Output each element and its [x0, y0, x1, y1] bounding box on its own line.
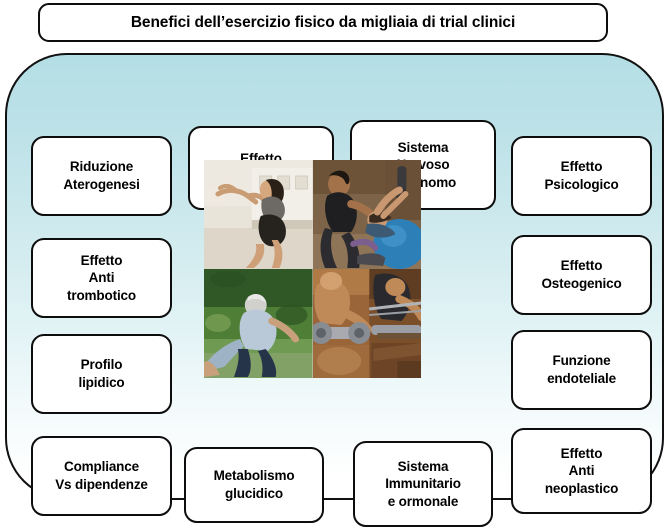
diagram-title-box: Benefici dell’esercizio fisico da miglia… — [38, 3, 608, 42]
photo-dumbbell-lifting-and-gym-equipment-closeups — [313, 269, 422, 378]
node-compliance-vs-dipendenze[interactable]: ComplianceVs dipendenze — [31, 436, 172, 516]
node-label: Metabolismoglucidico — [210, 467, 299, 502]
node-label: SistemaImmunitarioe ormonale — [381, 458, 465, 511]
node-metabolismo-glucidico[interactable]: Metabolismoglucidico — [184, 447, 324, 523]
node-profilo-lipidico[interactable]: Profilolipidico — [31, 334, 172, 414]
node-effetto-psicologico[interactable]: EffettoPsicologico — [511, 136, 652, 216]
node-label: RiduzioneAterogenesi — [59, 158, 143, 193]
node-label: EffettoPsicologico — [540, 158, 622, 193]
photo-trainer-assisting-woman-on-exercise-ball — [313, 160, 422, 269]
photo-woman-stretching-yoga-indoors — [204, 160, 313, 269]
node-funzione-endoteliale[interactable]: Funzioneendoteliale — [511, 330, 652, 410]
node-sistema-immunitario-e-ormonale[interactable]: SistemaImmunitarioe ormonale — [353, 441, 493, 527]
node-label: EffettoOsteogenico — [537, 257, 625, 292]
node-label: ComplianceVs dipendenze — [51, 458, 152, 493]
node-riduzione-aterogenesi[interactable]: RiduzioneAterogenesi — [31, 136, 172, 216]
node-label: Profilolipidico — [74, 356, 128, 391]
node-label: EffettoAntitrombotico — [63, 252, 140, 305]
node-label: Funzioneendoteliale — [543, 352, 620, 387]
node-effetto-antitrombotico[interactable]: EffettoAntitrombotico — [31, 238, 172, 318]
exercise-photo-collage — [204, 160, 421, 378]
page-title: Benefici dell’esercizio fisico da miglia… — [131, 14, 515, 32]
node-label: EffettoAntineoplastico — [541, 445, 622, 498]
node-effetto-osteogenico[interactable]: EffettoOsteogenico — [511, 235, 652, 315]
node-effetto-antineoplastico[interactable]: EffettoAntineoplastico — [511, 428, 652, 514]
photo-older-man-stretching-outdoors-and-couple-jogging — [204, 269, 313, 378]
